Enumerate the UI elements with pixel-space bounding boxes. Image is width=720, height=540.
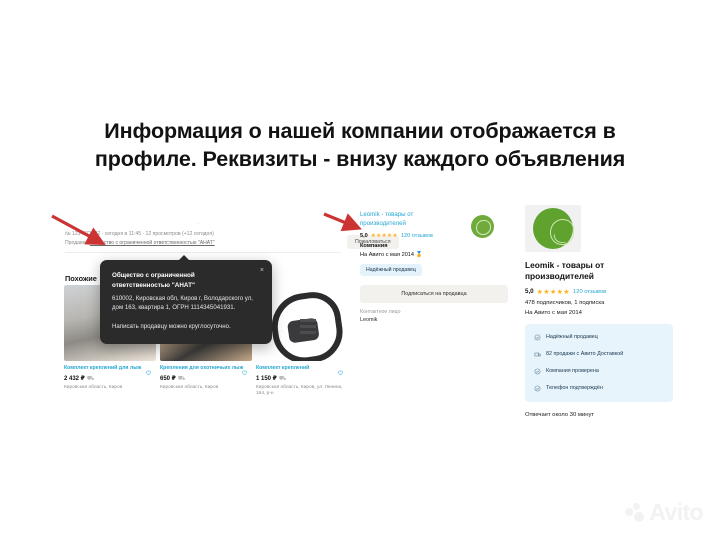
profile-since: На Авито с мая 2014 xyxy=(525,310,673,316)
tooltip-heading: Общество с ограниченной ответственностью… xyxy=(112,271,230,291)
avito-watermark: Avito xyxy=(625,499,703,526)
close-icon[interactable]: × xyxy=(260,267,264,274)
profile-badges: Надёжный продавец 82 продажи с Авито Дос… xyxy=(525,324,673,402)
check-circle-icon xyxy=(534,368,541,375)
star-rating-icon: ★★★★★ xyxy=(537,288,570,296)
product-title[interactable]: Комплект креплений для лыж xyxy=(64,365,156,372)
tooltip-footer: Написать продавцу можно круглосуточно. xyxy=(112,322,260,332)
product-price-value: 1 150 ₽ xyxy=(256,376,277,382)
subscribe-button[interactable]: Подписаться на продавца xyxy=(360,285,508,303)
profile-panel: Leomik - товары от производителей 5,0 ★★… xyxy=(525,205,673,418)
badge-phone-confirmed: Телефон подтверждён xyxy=(525,380,673,397)
annotation-arrow-seller-link xyxy=(50,214,120,254)
delivery-box-icon xyxy=(534,351,541,358)
badge-delivery-sales: 82 продажи с Авито Доставкой xyxy=(525,346,673,363)
tooltip-pointer xyxy=(178,255,190,261)
page-title: Информация о нашей компании отображается… xyxy=(0,118,720,173)
favorite-heart-icon[interactable] xyxy=(145,369,152,376)
badge-reliable-seller: Надёжный продавец xyxy=(525,329,673,346)
product-location: Кировская область, Киров xyxy=(160,385,252,391)
profile-subscribers: 478 подписчиков, 1 подписка xyxy=(525,300,673,306)
profile-rating-value: 5,0 xyxy=(525,288,534,295)
seller-avatar-small[interactable] xyxy=(471,215,494,238)
product-location: Кировская область, Киров xyxy=(64,385,156,391)
profile-reviews-link[interactable]: 120 отзывов xyxy=(573,289,606,295)
headline-line-1: Информация о нашей компании отображается… xyxy=(104,119,615,143)
favorite-heart-icon[interactable] xyxy=(337,369,344,376)
legal-info-tooltip: × Общество с ограниченной ответственност… xyxy=(100,260,272,344)
badge-label: Компания проверена xyxy=(546,368,599,374)
product-image-detail xyxy=(300,319,316,322)
delivery-icon: ⛟ xyxy=(87,376,95,382)
product-price: 650 ₽⛟ xyxy=(160,375,252,383)
badge-label: Надёжный продавец xyxy=(546,334,598,340)
badge-company-verified: Компания проверена xyxy=(525,363,673,380)
status-badge: Надёжный продавец xyxy=(360,264,422,276)
contact-person-label: Контактное лицо xyxy=(360,309,510,315)
check-circle-icon xyxy=(534,334,541,341)
avito-logo-icon xyxy=(625,503,645,523)
similar-section-title: Похожие xyxy=(65,274,97,283)
product-title[interactable]: Комплект креплений xyxy=(256,365,348,372)
tooltip-body: 610002, Кировская обл, Киров г, Володарс… xyxy=(112,294,260,313)
star-rating-icon: ★★★★★ xyxy=(371,233,398,239)
seller-reviews-link[interactable]: 120 отзывов xyxy=(401,233,433,239)
product-price-value: 650 ₽ xyxy=(160,376,176,382)
annotation-arrow-seller-name xyxy=(322,211,370,237)
avito-screenshot: · № 1234873402 · сегодня в 11:45 · 12 пр… xyxy=(60,205,672,420)
profile-name: Leomik - товары от производителей xyxy=(525,260,653,283)
logo-icon xyxy=(549,218,576,246)
answer-time: Отвечает около 30 минут xyxy=(525,412,673,418)
seller-type: Компания xyxy=(360,243,510,249)
product-price-value: 2 432 ₽ xyxy=(64,376,85,382)
check-circle-icon xyxy=(534,385,541,392)
seller-name-link[interactable]: Leomik - товары от производителей xyxy=(360,211,448,228)
favorite-heart-icon[interactable] xyxy=(241,369,248,376)
product-image-shape xyxy=(267,288,346,361)
badge-label: Телефон подтверждён xyxy=(546,385,603,391)
slide-root: Информация о нашей компании отображается… xyxy=(0,0,720,540)
headline-line-2: профиле. Реквизиты - внизу каждого объяв… xyxy=(34,146,686,174)
avatar[interactable] xyxy=(525,205,581,252)
avatar-circle xyxy=(533,208,573,249)
profile-rating: 5,0 ★★★★★ 120 отзывов xyxy=(525,288,673,296)
seller-since-text: На Авито с мая 2014 xyxy=(360,252,414,258)
seller-since: На Авито с мая 2014 🏅 xyxy=(360,252,510,258)
badge-label: 82 продажи с Авито Доставкой xyxy=(546,351,623,357)
contact-person-value: Leomik xyxy=(360,317,510,323)
product-price: 1 150 ₽⛟ xyxy=(256,375,348,383)
separator-dot: · xyxy=(197,221,199,227)
product-title[interactable]: Крепления для охотничьих лыж xyxy=(160,365,252,372)
watermark-text: Avito xyxy=(649,499,703,526)
product-price: 2 432 ₽⛟ xyxy=(64,375,156,383)
medal-icon: 🏅 xyxy=(416,252,423,258)
delivery-icon: ⛟ xyxy=(178,376,186,382)
product-location: Кировская область, Киров, ул. Ленина, 16… xyxy=(256,385,348,398)
delivery-icon: ⛟ xyxy=(279,376,287,382)
